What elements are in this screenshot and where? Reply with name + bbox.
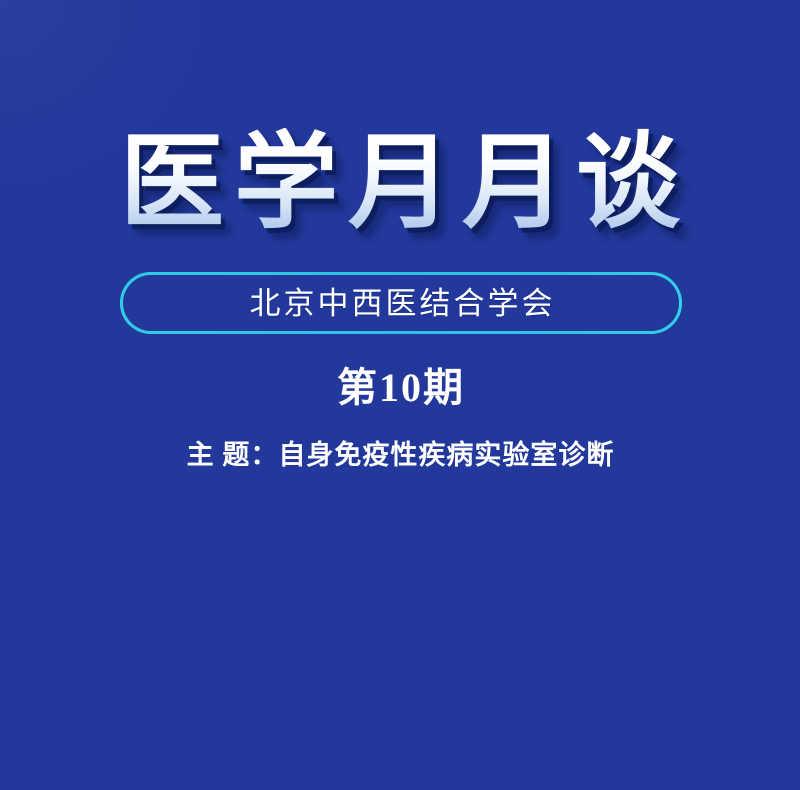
page-title: 医学月月谈 [110,128,690,240]
episode-theme: 主 题：自身免疫性疾病实验室诊断 [0,438,800,472]
episode-number: 第10期 [0,364,800,412]
organization-pill: 北京中西医结合学会 [120,272,682,334]
poster-canvas: 医学月月谈 北京中西医结合学会 第10期 主 题：自身免疫性疾病实验室诊断 [0,0,800,790]
blank-lower-area [0,490,800,790]
main-title-container: 医学月月谈 [0,128,800,240]
organization-name: 北京中西医结合学会 [247,288,556,319]
